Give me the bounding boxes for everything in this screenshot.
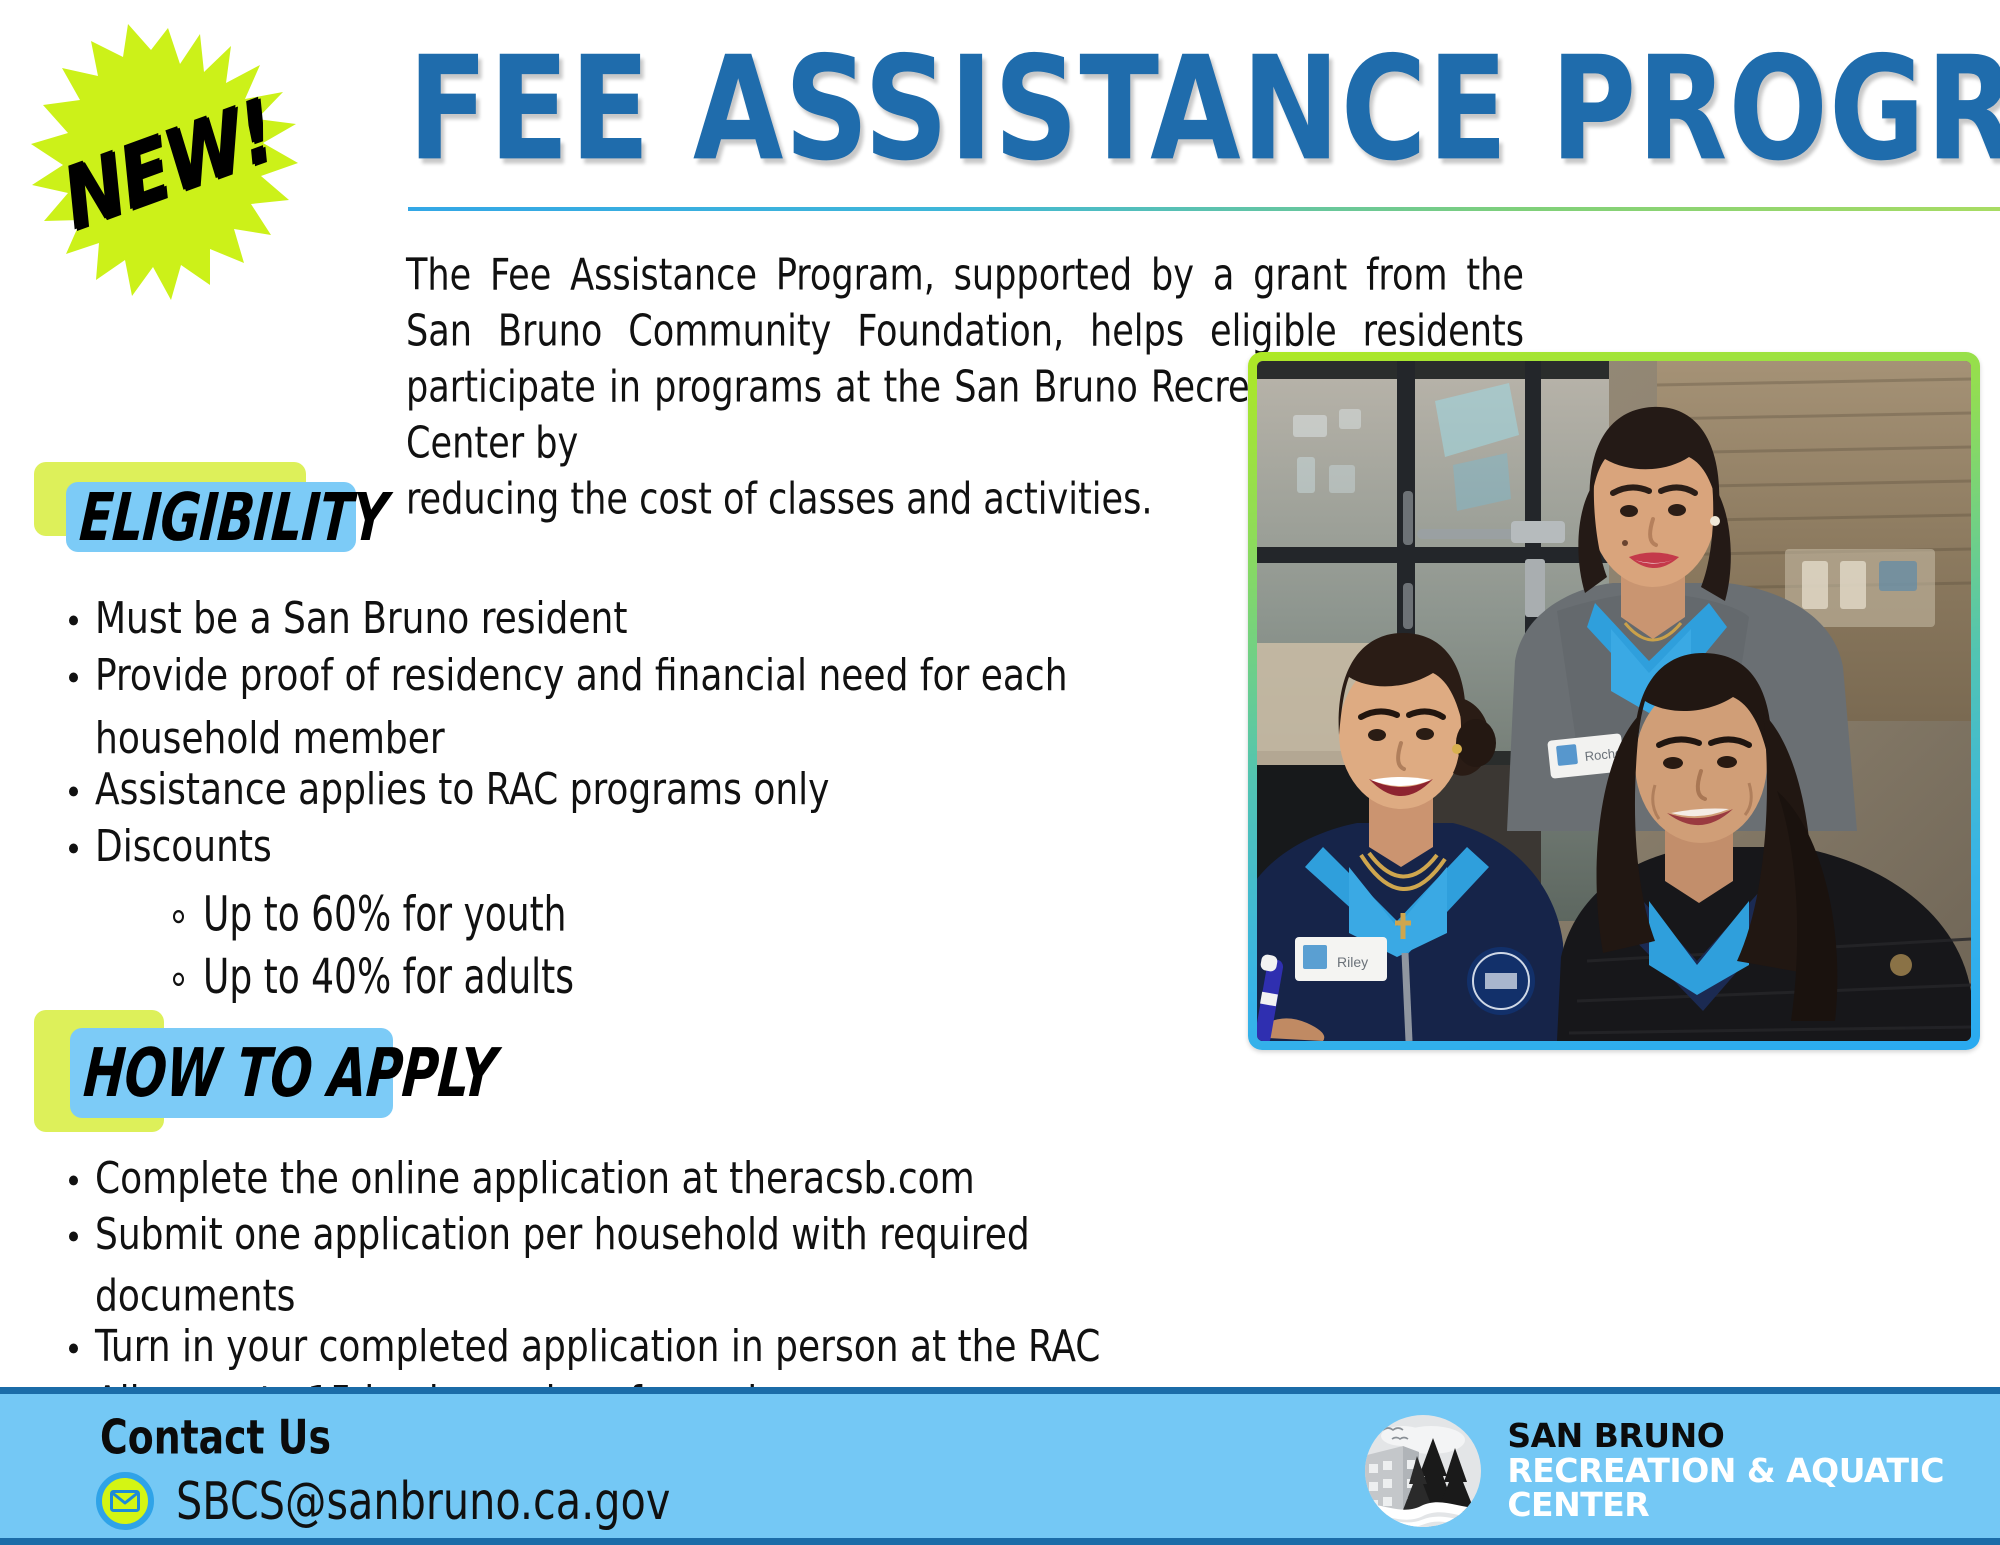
rac-logo-text: SAN BRUNO RECREATION & AQUATIC CENTER (1507, 1419, 1944, 1524)
section-heading-eligibility: ELIGIBILITY (34, 462, 364, 558)
list-item-label: Turn in your completed application in pe… (95, 1322, 1100, 1373)
contact-email-row[interactable]: SBCS@sanbruno.ca.gov (96, 1472, 670, 1530)
list-item-label: Complete the online application at thera… (95, 1154, 975, 1205)
bullet-ring-icon (173, 910, 184, 923)
eligibility-list: Must be a San Bruno resident Provide pro… (55, 588, 1165, 989)
heading-label-eligibility: ELIGIBILITY (77, 479, 390, 556)
heading-label-how-to-apply: HOW TO APPLY (81, 1034, 499, 1112)
bullet-dot-icon (69, 787, 78, 797)
rac-logo: SAN BRUNO RECREATION & AQUATIC CENTER (1359, 1412, 1944, 1530)
list-item: Assistance applies to RAC programs only (55, 759, 1165, 822)
list-item-label: Must be a San Bruno resident (95, 594, 627, 645)
list-item: Discounts Up to 60% for youth Up to 40% … (55, 816, 1165, 1006)
contact-heading: Contact Us (100, 1410, 331, 1465)
staff-photo: Rochelle (1257, 361, 1971, 1041)
new-badge-label: NEW! (53, 79, 283, 250)
sub-list-item-label: Up to 60% for youth (203, 887, 566, 943)
list-item: Turn in your completed application in pe… (55, 1316, 1215, 1378)
bullet-ring-icon (173, 973, 184, 986)
list-item: Provide proof of residency and financial… (55, 645, 1165, 770)
rac-oval-logo-icon (1359, 1412, 1487, 1530)
bullet-dot-icon (69, 1344, 78, 1354)
heading-front-chip: HOW TO APPLY (70, 1028, 393, 1118)
bullet-dot-icon (69, 1176, 78, 1186)
sub-list-item-label: Up to 40% for adults (203, 950, 574, 1006)
title-divider (408, 207, 2000, 211)
list-item: Submit one application per household wit… (55, 1204, 1215, 1327)
section-heading-how-to-apply: HOW TO APPLY (34, 1010, 434, 1135)
how-to-apply-list: Complete the online application at thera… (55, 1148, 1215, 1428)
logo-line-2: RECREATION & AQUATIC (1507, 1454, 1944, 1489)
sub-list-item: Up to 40% for adults (161, 944, 1165, 1013)
discount-sublist: Up to 60% for youth Up to 40% for adults (161, 881, 1165, 1006)
contact-email[interactable]: SBCS@sanbruno.ca.gov (176, 1471, 670, 1531)
envelope-glyph (110, 1490, 140, 1512)
list-item-label: Submit one application per household wit… (95, 1210, 1030, 1322)
new-badge: NEW! (28, 24, 308, 304)
list-item-label: Assistance applies to RAC programs only (95, 765, 829, 816)
page-title: FEE ASSISTANCE PROGRAM (408, 38, 2000, 181)
flyer-page: NEW! FEE ASSISTANCE PROGRAM The Fee Assi… (0, 0, 2000, 1545)
staff-photo-illustration: Rochelle (1257, 361, 1971, 1041)
logo-line-1: SAN BRUNO (1507, 1419, 1944, 1454)
footer-bar: Contact Us SBCS@sanbruno.ca.gov (0, 1387, 2000, 1545)
photo-frame: Rochelle (1248, 352, 1980, 1050)
bullet-dot-icon (69, 1232, 78, 1242)
bullet-dot-icon (69, 616, 78, 626)
envelope-icon (96, 1472, 154, 1530)
heading-front-chip: ELIGIBILITY (66, 482, 356, 552)
logo-line-3: CENTER (1507, 1488, 1944, 1523)
list-item-label: Discounts (95, 822, 272, 873)
bullet-dot-icon (69, 844, 78, 854)
list-item-label: Provide proof of residency and financial… (95, 651, 1068, 764)
sub-list-item: Up to 60% for youth (161, 881, 1165, 950)
rac-logo-glyph (1359, 1412, 1487, 1530)
list-item: Must be a San Bruno resident (55, 588, 1165, 651)
name-badge-riley: Riley (1337, 954, 1368, 970)
bullet-dot-icon (69, 673, 78, 683)
list-item: Complete the online application at thera… (55, 1148, 1215, 1210)
